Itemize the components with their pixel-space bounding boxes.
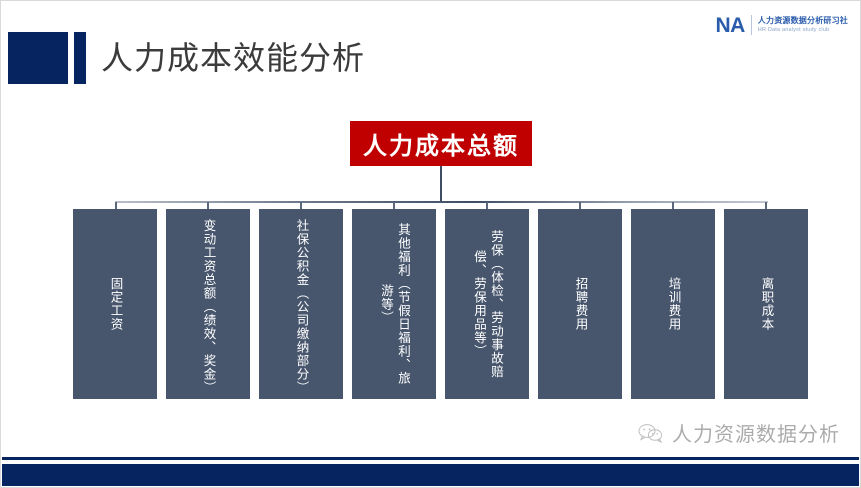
brand-name-english: HR Data analyst study club bbox=[758, 26, 848, 34]
connector-horizontal-bus bbox=[115, 201, 768, 203]
diagram-leaf-label: 离职成本 bbox=[758, 273, 775, 335]
diagram-leaf-node[interactable]: 离职成本 bbox=[724, 209, 808, 399]
diagram-leaf-node[interactable]: 劳保（体检、劳动事故赔偿、劳保用品等） bbox=[445, 209, 529, 399]
connector-root-stem bbox=[440, 166, 442, 202]
diagram-leaf-label: 其他福利（节假日福利、旅游等） bbox=[377, 215, 411, 393]
title-accent-block-small bbox=[74, 32, 86, 84]
title-accent-block-large bbox=[8, 32, 68, 84]
diagram-leaf-label: 培训费用 bbox=[665, 273, 682, 335]
diagram-leaf-label: 劳保（体检、劳动事故赔偿、劳保用品等） bbox=[470, 215, 504, 393]
diagram-leaf-label: 招聘费用 bbox=[572, 273, 589, 335]
diagram-leaf-node[interactable]: 固定工资 bbox=[73, 209, 157, 399]
footer-bar bbox=[2, 464, 859, 486]
footer-rule bbox=[2, 457, 859, 460]
brand-divider bbox=[751, 15, 752, 35]
diagram-root-label: 人力成本总额 bbox=[363, 126, 519, 161]
diagram-leaf-label: 社保公积金（公司缴纳部分） bbox=[293, 215, 310, 393]
footer-watermark: 人力资源数据分析 bbox=[638, 418, 840, 447]
slide-canvas: 人力成本效能分析 NA 人力资源数据分析研习社 HR Data analyst … bbox=[0, 0, 861, 488]
diagram-leaf-node[interactable]: 招聘费用 bbox=[538, 209, 622, 399]
brand-mark-na: NA bbox=[715, 15, 750, 36]
wechat-icon bbox=[638, 423, 664, 443]
diagram-leaf-node[interactable]: 其他福利（节假日福利、旅游等） bbox=[352, 209, 436, 399]
page-title: 人力成本效能分析 bbox=[101, 34, 365, 82]
diagram-leaf-label: 固定工资 bbox=[107, 273, 124, 335]
brand-text-group: 人力资源数据分析研习社 HR Data analyst study club bbox=[758, 16, 848, 34]
footer-watermark-text: 人力资源数据分析 bbox=[672, 418, 840, 447]
diagram-leaf-label: 变动工资总额（绩效、奖金） bbox=[200, 215, 217, 393]
brand-logo: NA 人力资源数据分析研习社 HR Data analyst study clu… bbox=[715, 11, 848, 39]
diagram-root-node[interactable]: 人力成本总额 bbox=[350, 121, 532, 166]
brand-name-chinese: 人力资源数据分析研习社 bbox=[758, 16, 848, 26]
diagram-leaf-node[interactable]: 社保公积金（公司缴纳部分） bbox=[259, 209, 343, 399]
diagram-leaf-node[interactable]: 培训费用 bbox=[631, 209, 715, 399]
diagram-leaf-node[interactable]: 变动工资总额（绩效、奖金） bbox=[166, 209, 250, 399]
